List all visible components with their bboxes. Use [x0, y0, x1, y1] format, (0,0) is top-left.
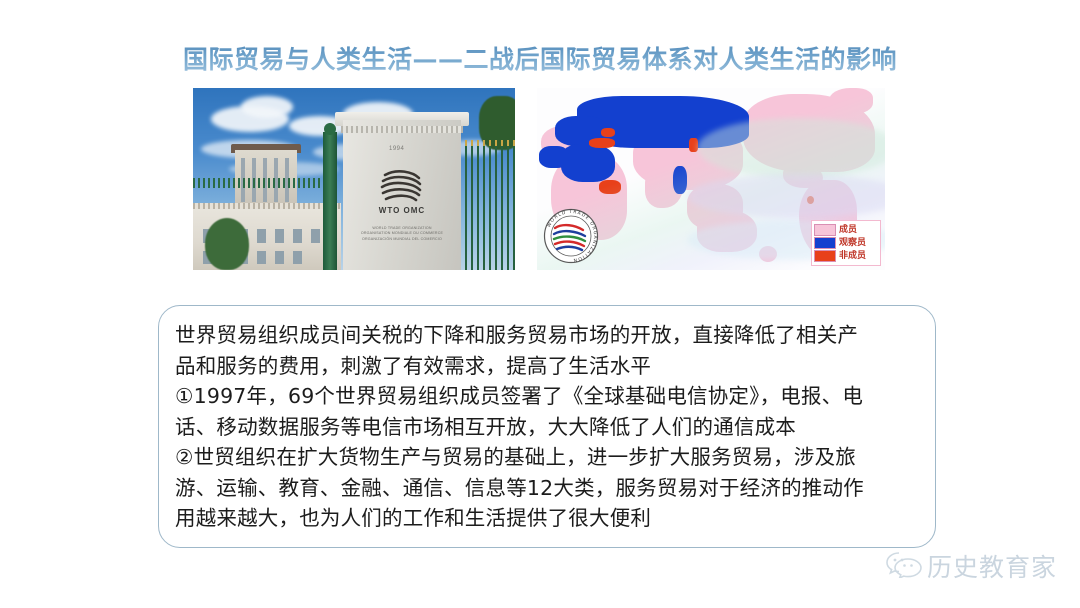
- content-textbox: 世界贸易组织成员间关税的下降和服务贸易市场的开放，直接降低了相关产 品和服务的费…: [158, 305, 936, 548]
- body-line: 品和服务的费用，刺激了有效需求，提高了生活水平: [175, 351, 919, 382]
- body-line: 话、移动数据服务等电信市场相互开放，大大降低了人们的通信成本: [175, 412, 919, 443]
- iron-fence-right: [461, 146, 515, 270]
- legend-swatch-member: [814, 224, 836, 236]
- pillar-inscription: WORLD TRADE ORGANIZATION ORGANISATION MO…: [345, 226, 459, 242]
- iron-fence-left: [193, 178, 323, 188]
- pillar-year-mark: 1994: [389, 146, 404, 152]
- wto-headquarters-photo: 1994 WTO OMC WORLD TRADE ORGANIZATION OR…: [193, 88, 515, 270]
- wto-swoosh-logo-icon: [375, 166, 427, 206]
- map-band-overlay: [697, 118, 885, 178]
- world-map-photo: WORLD TRADE ORGANIZATION 成员 观察员: [537, 88, 885, 270]
- slide-canvas: 国际贸易与人类生活——二战后国际贸易体系对人类生活的影响: [0, 0, 1080, 608]
- legend-label-observer: 观察员: [839, 238, 866, 248]
- legend-swatch-nonmember: [814, 250, 836, 262]
- page-title: 国际贸易与人类生活——二战后国际贸易体系对人类生活的影响: [0, 40, 1080, 76]
- watermark-text: 历史教育家: [927, 548, 1057, 584]
- map-legend: 成员 观察员 非成员: [811, 220, 881, 266]
- cloud-shape: [241, 96, 293, 118]
- legend-item-observer: 观察员: [814, 237, 878, 249]
- wechat-icon: [886, 550, 922, 583]
- inscription-line-es: ORGANIZACIÓN MUNDIAL DEL COMERCIO: [345, 237, 459, 242]
- legend-label-member: 成员: [839, 225, 857, 235]
- body-line: ②世贸组织在扩大货物生产与贸易的基础上，进一步扩大服务贸易，涉及旅: [175, 442, 919, 473]
- legend-label-nonmember: 非成员: [839, 251, 866, 261]
- pillar-dentils: [341, 126, 463, 133]
- body-line: ①1997年，69个世界贸易组织成员签署了《全球基础电信协定》，电报、电: [175, 381, 919, 412]
- legend-item-nonmember: 非成员: [814, 250, 878, 262]
- body-line: 游、运输、教育、金融、通信、信息等12大类，服务贸易对于经济的推动作: [175, 473, 919, 504]
- watermark: 历史教育家: [886, 548, 1057, 584]
- textbox-body: 世界贸易组织成员间关税的下降和服务贸易市场的开放，直接降低了相关产 品和服务的费…: [159, 306, 935, 534]
- legend-item-member: 成员: [814, 224, 878, 236]
- body-line: 用越来越大，也为人们的工作和生活提供了很大便利: [175, 503, 919, 534]
- legend-swatch-observer: [814, 237, 836, 249]
- body-line: 世界贸易组织成员间关税的下降和服务贸易市场的开放，直接降低了相关产: [175, 320, 919, 351]
- wto-seal-icon: WORLD TRADE ORGANIZATION: [543, 208, 599, 264]
- pillar-logo-label: WTO OMC: [343, 206, 461, 215]
- tree-shape: [205, 218, 249, 270]
- gate-post: [323, 132, 337, 270]
